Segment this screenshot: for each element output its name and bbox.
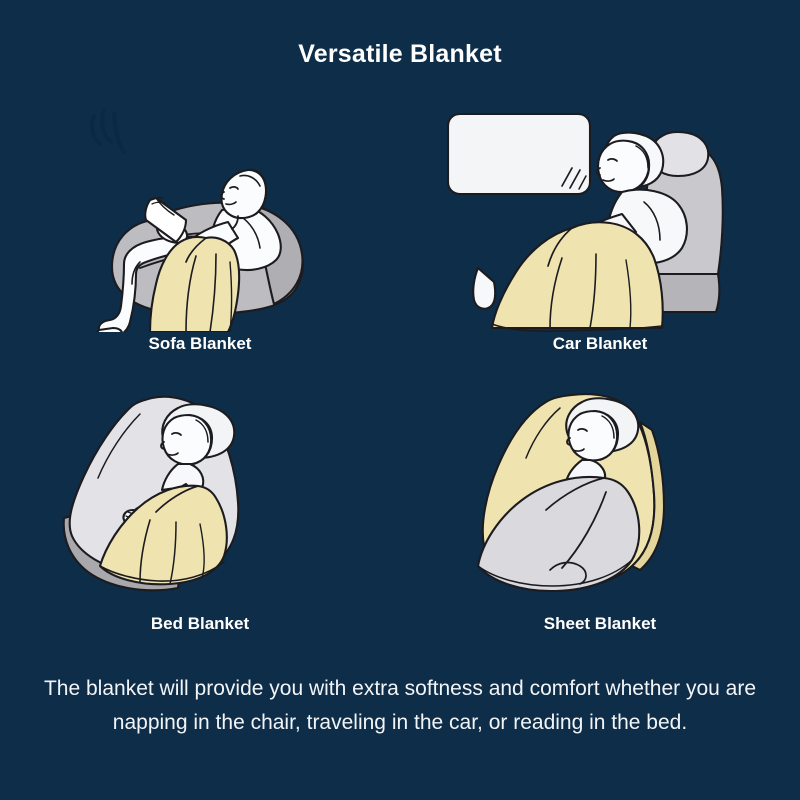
bed-blanket-illustration — [0, 372, 400, 612]
panel-grid: Sofa Blanket — [0, 92, 800, 652]
panel-bed: Bed Blanket — [0, 372, 400, 652]
product-infographic: Versatile Blanket — [0, 0, 800, 800]
panel-label-bed: Bed Blanket — [0, 614, 400, 634]
panel-label-car: Car Blanket — [400, 334, 800, 354]
sheet-blanket-illustration — [400, 372, 800, 612]
page-title: Versatile Blanket — [0, 40, 800, 69]
sofa-blanket-illustration — [0, 92, 400, 332]
panel-car: Car Blanket — [400, 92, 800, 372]
panel-label-sheet: Sheet Blanket — [400, 614, 800, 634]
description-text: The blanket will provide you with extra … — [26, 672, 774, 740]
panel-label-sofa: Sofa Blanket — [0, 334, 400, 354]
car-blanket-illustration — [400, 92, 800, 332]
panel-sheet: Sheet Blanket — [400, 372, 800, 652]
panel-sofa: Sofa Blanket — [0, 92, 400, 372]
